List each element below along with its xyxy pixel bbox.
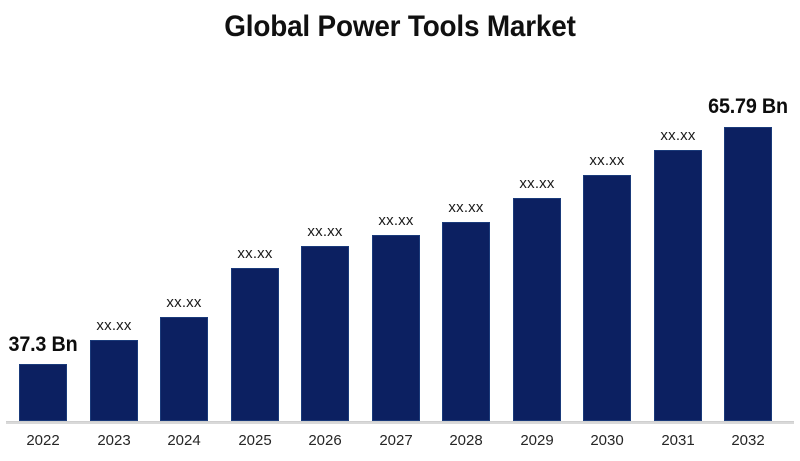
bar-2032[interactable] <box>724 127 772 421</box>
bar-category-2026: xx.xx2026 <box>301 0 349 461</box>
bar-2027[interactable] <box>372 235 420 421</box>
bar-category-2030: xx.xx2030 <box>583 0 631 461</box>
bar-value-label-2030: xx.xx <box>589 152 624 169</box>
bar-2023[interactable] <box>90 340 138 421</box>
bar-value-label-2022: 37.3 Bn <box>9 333 78 357</box>
bar-category-2024: xx.xx2024 <box>160 0 208 461</box>
x-axis-tick-2022: 2022 <box>26 432 59 449</box>
bar-2029[interactable] <box>513 198 561 421</box>
bar-value-label-2027: xx.xx <box>378 212 413 229</box>
bar-value-label-2025: xx.xx <box>237 245 272 262</box>
bar-value-label-2032: 65.79 Bn <box>708 95 788 119</box>
bar-category-2028: xx.xx2028 <box>442 0 490 461</box>
plot-area: 37.3 Bn2022xx.xx2023xx.xx2024xx.xx2025xx… <box>0 0 800 461</box>
bar-category-2023: xx.xx2023 <box>90 0 138 461</box>
bar-value-label-2031: xx.xx <box>660 127 695 144</box>
bar-2030[interactable] <box>583 175 631 421</box>
bar-category-2027: xx.xx2027 <box>372 0 420 461</box>
x-axis-tick-2031: 2031 <box>661 432 694 449</box>
bar-value-label-2023: xx.xx <box>96 317 131 334</box>
x-axis-tick-2025: 2025 <box>238 432 271 449</box>
bar-category-2032: 65.79 Bn2032 <box>724 0 772 461</box>
bar-2022[interactable] <box>19 364 67 421</box>
bar-value-label-2026: xx.xx <box>307 223 342 240</box>
chart-container: Global Power Tools Market 37.3 Bn2022xx.… <box>0 0 800 461</box>
x-axis-tick-2030: 2030 <box>590 432 623 449</box>
bar-2026[interactable] <box>301 246 349 421</box>
bar-category-2022: 37.3 Bn2022 <box>19 0 67 461</box>
x-axis-tick-2024: 2024 <box>167 432 200 449</box>
bar-value-label-2024: xx.xx <box>166 294 201 311</box>
x-axis-tick-2029: 2029 <box>520 432 553 449</box>
bar-2024[interactable] <box>160 317 208 421</box>
bar-value-label-2029: xx.xx <box>519 175 554 192</box>
x-axis-tick-2026: 2026 <box>308 432 341 449</box>
x-axis-tick-2028: 2028 <box>449 432 482 449</box>
bar-2025[interactable] <box>231 268 279 421</box>
x-axis-tick-2023: 2023 <box>97 432 130 449</box>
x-axis-tick-2032: 2032 <box>731 432 764 449</box>
x-axis-tick-2027: 2027 <box>379 432 412 449</box>
bar-category-2029: xx.xx2029 <box>513 0 561 461</box>
bar-value-label-2028: xx.xx <box>448 199 483 216</box>
bar-2031[interactable] <box>654 150 702 421</box>
bar-category-2031: xx.xx2031 <box>654 0 702 461</box>
bar-category-2025: xx.xx2025 <box>231 0 279 461</box>
bar-2028[interactable] <box>442 222 490 421</box>
